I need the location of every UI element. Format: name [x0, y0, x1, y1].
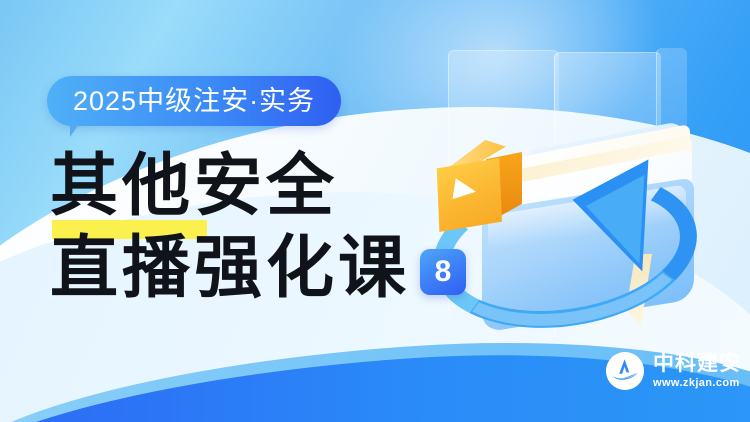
headline-line-1: 其他安全: [50, 152, 338, 222]
episode-number: 8: [435, 257, 452, 287]
course-poster: 2025中级注安·实务 其他安全 直播强化课 8 中科建安 www.zkjan: [0, 0, 750, 422]
headline-line-2: 直播强化课: [50, 234, 410, 304]
brand-logo: 中科建安 www.zkjan.com: [606, 352, 741, 390]
headline-block: 其他安全 直播强化课 8: [50, 152, 466, 304]
brand-text: 中科建安 www.zkjan.com: [653, 352, 741, 390]
episode-badge: 8: [420, 249, 466, 295]
zkjan-logo-icon: [606, 352, 644, 390]
brand-name: 中科建安: [653, 352, 741, 375]
badge-tail: [70, 124, 88, 137]
course-category-label: 2025中级注安·实务: [73, 88, 315, 115]
course-category-badge: 2025中级注安·实务: [47, 76, 341, 126]
headline-row-2: 直播强化课 8: [50, 234, 466, 304]
headline-row-1: 其他安全: [50, 152, 466, 222]
brand-url: www.zkjan.com: [653, 377, 741, 390]
